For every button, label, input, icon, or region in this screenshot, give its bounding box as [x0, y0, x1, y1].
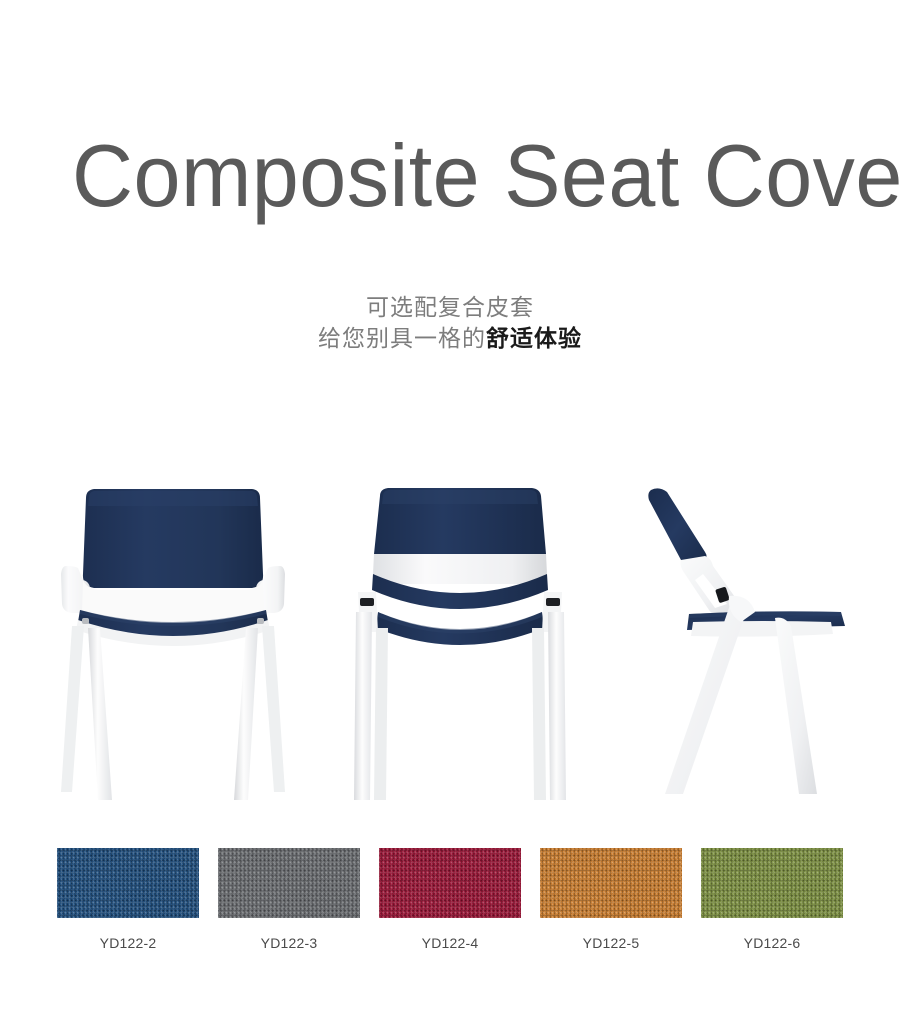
- product-gallery: [0, 462, 900, 802]
- subtitle-line-2-normal: 给您别具一格的: [318, 325, 486, 351]
- subtitle-line-2: 给您别具一格的舒适体验: [0, 323, 900, 354]
- swatch-label-4: YD122-6: [701, 935, 843, 951]
- swatch-item[interactable]: YD122-4: [379, 848, 521, 951]
- page-title: Composite Seat Covers: [72, 132, 840, 220]
- swatch-item[interactable]: YD122-5: [540, 848, 682, 951]
- swatch-item[interactable]: YD122-3: [218, 848, 360, 951]
- chair-back-view-image: [342, 462, 604, 802]
- swatch-chip-1[interactable]: [218, 848, 360, 918]
- swatch-chip-3[interactable]: [540, 848, 682, 918]
- swatch-chip-0[interactable]: [57, 848, 199, 918]
- swatch-label-1: YD122-3: [218, 935, 360, 951]
- swatch-item[interactable]: YD122-6: [701, 848, 843, 951]
- fabric-swatch-row: YD122-2 YD122-3 YD122-4 YD122-5 YD122-6: [57, 848, 843, 951]
- subtitle: 可选配复合皮套 给您别具一格的舒适体验: [0, 292, 900, 354]
- subtitle-line-1: 可选配复合皮套: [0, 292, 900, 323]
- swatch-label-2: YD122-4: [379, 935, 521, 951]
- swatch-item[interactable]: YD122-2: [57, 848, 199, 951]
- swatch-chip-2[interactable]: [379, 848, 521, 918]
- chair-front-view-image: [42, 462, 304, 802]
- swatch-label-3: YD122-5: [540, 935, 682, 951]
- chair-side-view-image: [645, 462, 880, 802]
- swatch-label-0: YD122-2: [57, 935, 199, 951]
- swatch-chip-4[interactable]: [701, 848, 843, 918]
- subtitle-line-2-accent: 舒适体验: [486, 325, 582, 351]
